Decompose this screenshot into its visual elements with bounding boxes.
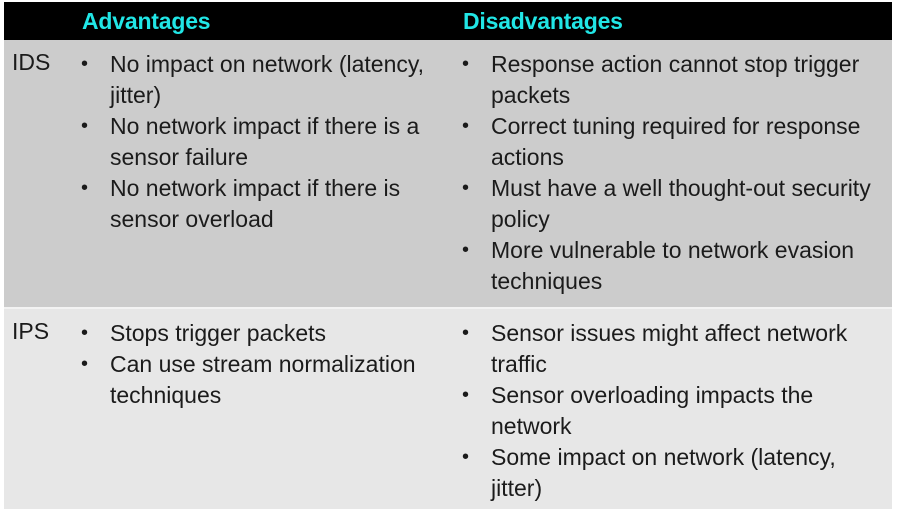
list-item-text: Must have a well thought-out security po…	[491, 173, 889, 235]
table-header-row: Advantages Disadvantages	[4, 2, 892, 40]
list-item: • Some impact on network (latency, jitte…	[459, 442, 889, 504]
list-item: • Can use stream normalization technique…	[78, 349, 438, 411]
cell-ids-disadvantages: • Response action cannot stop trigger pa…	[459, 49, 889, 297]
list-item-text: No network impact if there is sensor ove…	[110, 173, 438, 235]
column-header-disadvantages: Disadvantages	[463, 2, 623, 40]
cell-ips-advantages: • Stops trigger packets • Can use stream…	[78, 318, 438, 411]
bullet-icon: •	[462, 380, 472, 411]
bullet-list-ids-disadvantages: • Response action cannot stop trigger pa…	[459, 49, 889, 297]
bullet-icon: •	[462, 49, 472, 80]
list-item: • Sensor issues might affect network tra…	[459, 318, 889, 380]
bullet-list-ips-advantages: • Stops trigger packets • Can use stream…	[78, 318, 438, 411]
bullet-icon: •	[81, 111, 91, 142]
bullet-list-ids-advantages: • No impact on network (latency, jitter)…	[78, 49, 438, 235]
bullet-icon: •	[81, 49, 91, 80]
list-item: • Stops trigger packets	[78, 318, 438, 349]
list-item-text: Can use stream normalization techniques	[110, 349, 438, 411]
list-item-text: No impact on network (latency, jitter)	[110, 49, 438, 111]
bullet-icon: •	[462, 442, 472, 473]
bullet-icon: •	[462, 318, 472, 349]
bullet-icon: •	[462, 235, 472, 266]
list-item: • Sensor overloading impacts the network	[459, 380, 889, 442]
bullet-icon: •	[462, 173, 472, 204]
list-item-text: Sensor issues might affect network traff…	[491, 318, 889, 380]
list-item-text: Some impact on network (latency, jitter)	[491, 442, 889, 504]
bullet-icon: •	[462, 111, 472, 142]
comparison-table: Advantages Disadvantages IDS • No impact…	[0, 0, 898, 509]
list-item: • No network impact if there is sensor o…	[78, 173, 438, 235]
row-label-ids: IDS	[12, 49, 50, 76]
table-row-ids: IDS • No impact on network (latency, jit…	[4, 40, 892, 307]
bullet-icon: •	[81, 349, 91, 380]
list-item-text: More vulnerable to network evasion techn…	[491, 235, 889, 297]
list-item-text: No network impact if there is a sensor f…	[110, 111, 438, 173]
list-item-text: Stops trigger packets	[110, 318, 438, 349]
list-item: • More vulnerable to network evasion tec…	[459, 235, 889, 297]
list-item: • Response action cannot stop trigger pa…	[459, 49, 889, 111]
table-row-ips: IPS • Stops trigger packets • Can use st…	[4, 309, 892, 509]
column-header-advantages: Advantages	[82, 2, 210, 40]
list-item-text: Sensor overloading impacts the network	[491, 380, 889, 442]
bullet-icon: •	[81, 318, 91, 349]
list-item: • No impact on network (latency, jitter)	[78, 49, 438, 111]
bullet-icon: •	[81, 173, 91, 204]
list-item-text: Response action cannot stop trigger pack…	[491, 49, 889, 111]
row-label-ips: IPS	[12, 318, 49, 345]
list-item-text: Correct tuning required for response act…	[491, 111, 889, 173]
bullet-list-ips-disadvantages: • Sensor issues might affect network tra…	[459, 318, 889, 504]
list-item: • Must have a well thought-out security …	[459, 173, 889, 235]
cell-ips-disadvantages: • Sensor issues might affect network tra…	[459, 318, 889, 504]
list-item: • No network impact if there is a sensor…	[78, 111, 438, 173]
list-item: • Correct tuning required for response a…	[459, 111, 889, 173]
cell-ids-advantages: • No impact on network (latency, jitter)…	[78, 49, 438, 235]
